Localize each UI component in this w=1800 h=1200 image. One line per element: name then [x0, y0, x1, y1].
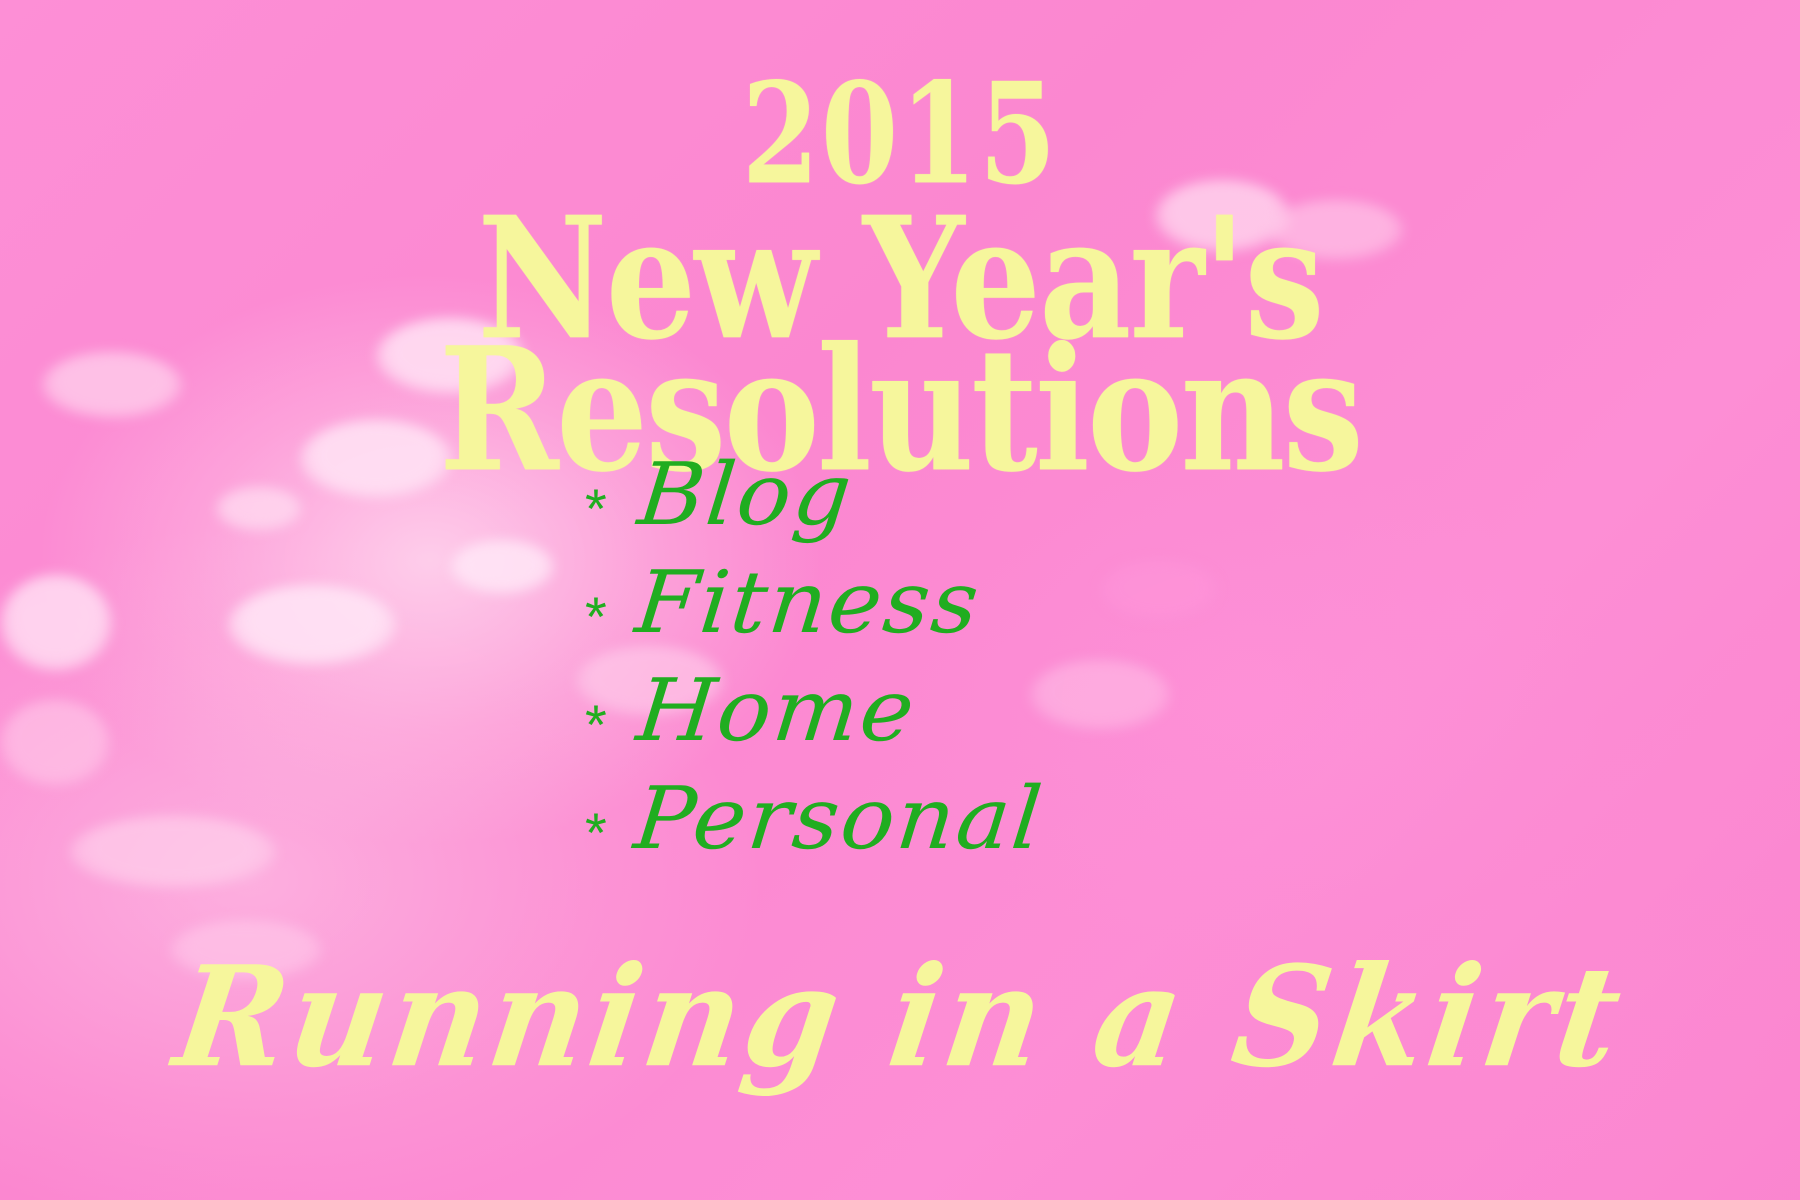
resolution-item: *Personal — [585, 776, 1285, 884]
resolution-item-label: Personal — [631, 776, 1048, 862]
resolution-item: *Blog — [585, 452, 1285, 560]
brand-signature: Running in a Skirt — [0, 949, 1800, 1088]
resolution-list: *Blog*Fitness*Home*Personal — [585, 452, 1285, 884]
resolution-item-label: Fitness — [632, 560, 985, 646]
resolution-item: *Home — [585, 668, 1285, 776]
poster-canvas: 2015 New Year's Resolutions *Blog*Fitnes… — [0, 0, 1800, 1200]
resolution-item: *Fitness — [585, 560, 1285, 668]
resolution-item-label: Blog — [634, 452, 857, 538]
resolution-item-label: Home — [633, 668, 920, 754]
